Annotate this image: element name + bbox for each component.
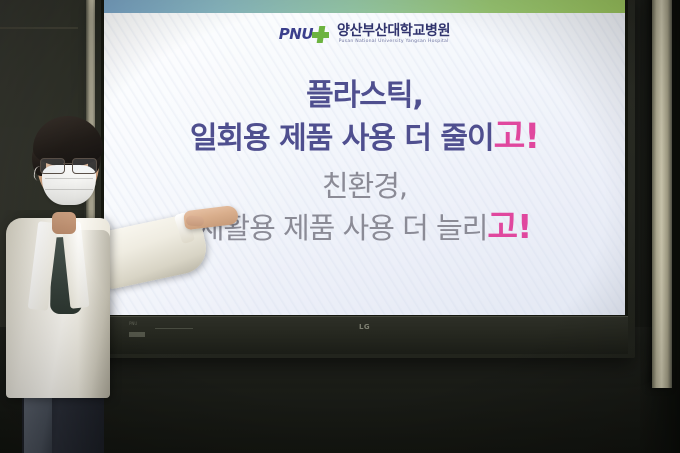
presenter-glasses-icon: [39, 158, 97, 173]
photo-scene: PNU 양산부산대학교병원 Pusan National University …: [0, 0, 680, 453]
headline-line-4-accent: 고!: [487, 207, 531, 246]
bezel-etched-line: [155, 328, 193, 329]
wall-panel-seam: [0, 27, 78, 29]
hospital-name-block: 양산부산대학교병원 Pusan National University Yang…: [337, 24, 450, 45]
headline-line-3-text: 친환경,: [322, 169, 407, 203]
presenter-coat-shading: [78, 230, 110, 398]
headline-line-2-text: 일회용 제품 사용 더 줄이: [190, 121, 494, 156]
hospital-name-korean: 양산부산대학교병원: [337, 24, 450, 38]
headline-line-1: 플라스틱,: [104, 78, 625, 113]
headline-line-4-text: 재활용 제품 사용 더 늘리: [198, 211, 488, 245]
bezel-hairline: [101, 316, 628, 317]
display-bottom-bezel: PNU LG: [101, 316, 628, 354]
pnu-logo-text: PNU: [279, 25, 313, 43]
presenter-thumb: [186, 215, 205, 227]
headline-line-2-accent: 고!: [494, 117, 539, 157]
pnu-logomark: PNU: [279, 25, 329, 43]
hospital-logo: PNU 양산부산대학교병원 Pusan National University …: [104, 24, 625, 45]
wall-display: PNU 양산부산대학교병원 Pusan National University …: [95, 0, 635, 358]
headline-line-1-text: 플라스틱,: [306, 78, 423, 113]
hospital-name-english: Pusan National University Yangsan Hospit…: [339, 40, 449, 45]
display-brand-logo: LG: [359, 323, 370, 331]
headline-line-2: 일회용 제품 사용 더 줄이고!: [104, 117, 625, 158]
bezel-sticker: [129, 332, 145, 337]
wall-pillar-right: [652, 0, 672, 388]
bezel-side-mark: PNU: [129, 321, 137, 326]
medical-cross-icon: [312, 26, 329, 43]
headline-line-3: 친환경,: [104, 169, 625, 203]
slide-top-gradient-bar: [104, 0, 625, 13]
presenter-neck: [52, 212, 76, 234]
